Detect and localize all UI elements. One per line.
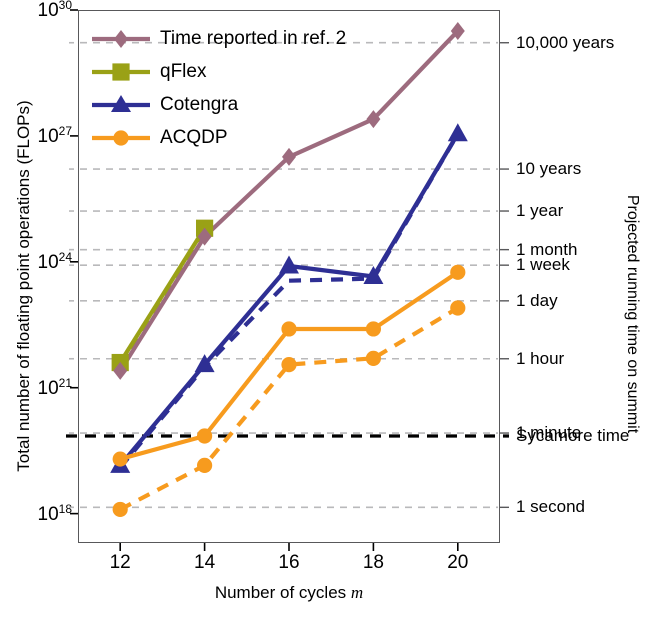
marker-circle-acqdp-dashed-2 [281, 357, 296, 372]
marker-circle-acqdp-dashed-0 [113, 502, 128, 517]
x-axis-title-text: Number of cycles [215, 583, 351, 602]
marker-triangle-cotengra-4 [448, 123, 468, 141]
right-axis-label-1-hour: 1 hour [516, 349, 564, 369]
legend-item-acqdp[interactable]: ACQDP [90, 121, 380, 154]
marker-circle-acqdp-2 [281, 321, 296, 336]
marker-circle-acqdp-4 [450, 265, 465, 280]
legend-label: Cotengra [160, 94, 238, 116]
series-line-qflex [120, 228, 204, 362]
x-axis-title: Number of cycles m [78, 583, 500, 603]
x-axis-label-14: 14 [194, 552, 215, 574]
legend-item-time-reported-in-ref-2[interactable]: Time reported in ref. 2 [90, 22, 380, 55]
legend-item-qflex[interactable]: qFlex [90, 55, 380, 88]
legend: Time reported in ref. 2qFlexCotengraACQD… [90, 22, 380, 154]
series-line-acqdp-dashed [120, 308, 458, 509]
legend-glyph [90, 26, 152, 52]
x-axis-label-20: 20 [447, 552, 468, 574]
right-axis-label-1-minute: 1 minute [516, 423, 581, 443]
right-axis-label-1-day: 1 day [516, 291, 558, 311]
x-axis-label-18: 18 [363, 552, 384, 574]
legend-glyph [90, 92, 152, 118]
marker-circle-acqdp-1 [197, 428, 212, 443]
right-axis-label-1-week: 1 week [516, 255, 570, 275]
marker-circle-acqdp-dashed-1 [197, 458, 212, 473]
legend-label: Time reported in ref. 2 [160, 28, 346, 50]
legend-item-cotengra[interactable]: Cotengra [90, 88, 380, 121]
right-axis-label-1-second: 1 second [516, 497, 585, 517]
x-axis-title-symbol: m [351, 583, 363, 602]
legend-label: ACQDP [160, 127, 228, 149]
right-axis-label-10-years: 10 years [516, 159, 581, 179]
legend-symbol-diamond-icon [90, 26, 152, 52]
legend-symbol-square-icon [90, 59, 152, 85]
series-line-cotengra [120, 134, 458, 466]
marker-circle-acqdp-dashed-4 [450, 300, 465, 315]
figure-root: Total number of floating point operation… [0, 0, 660, 623]
marker-circle-acqdp-dashed-3 [366, 351, 381, 366]
legend-symbol-circle-icon [90, 125, 152, 151]
series-line-qflex-dashed [120, 232, 204, 366]
legend-label: qFlex [160, 61, 206, 83]
legend-symbol-triangle-icon [90, 92, 152, 118]
marker-circle-acqdp-0 [113, 451, 128, 466]
x-axis-tick-labels: 1214161820 [0, 552, 660, 578]
right-axis-label-1-year: 1 year [516, 201, 563, 221]
marker-circle-acqdp-3 [366, 321, 381, 336]
legend-glyph [90, 59, 152, 85]
legend-glyph [90, 125, 152, 151]
x-axis-label-12: 12 [110, 552, 131, 574]
right-axis-label-10-000-years: 10,000 years [516, 33, 614, 53]
x-axis-label-16: 16 [278, 552, 299, 574]
